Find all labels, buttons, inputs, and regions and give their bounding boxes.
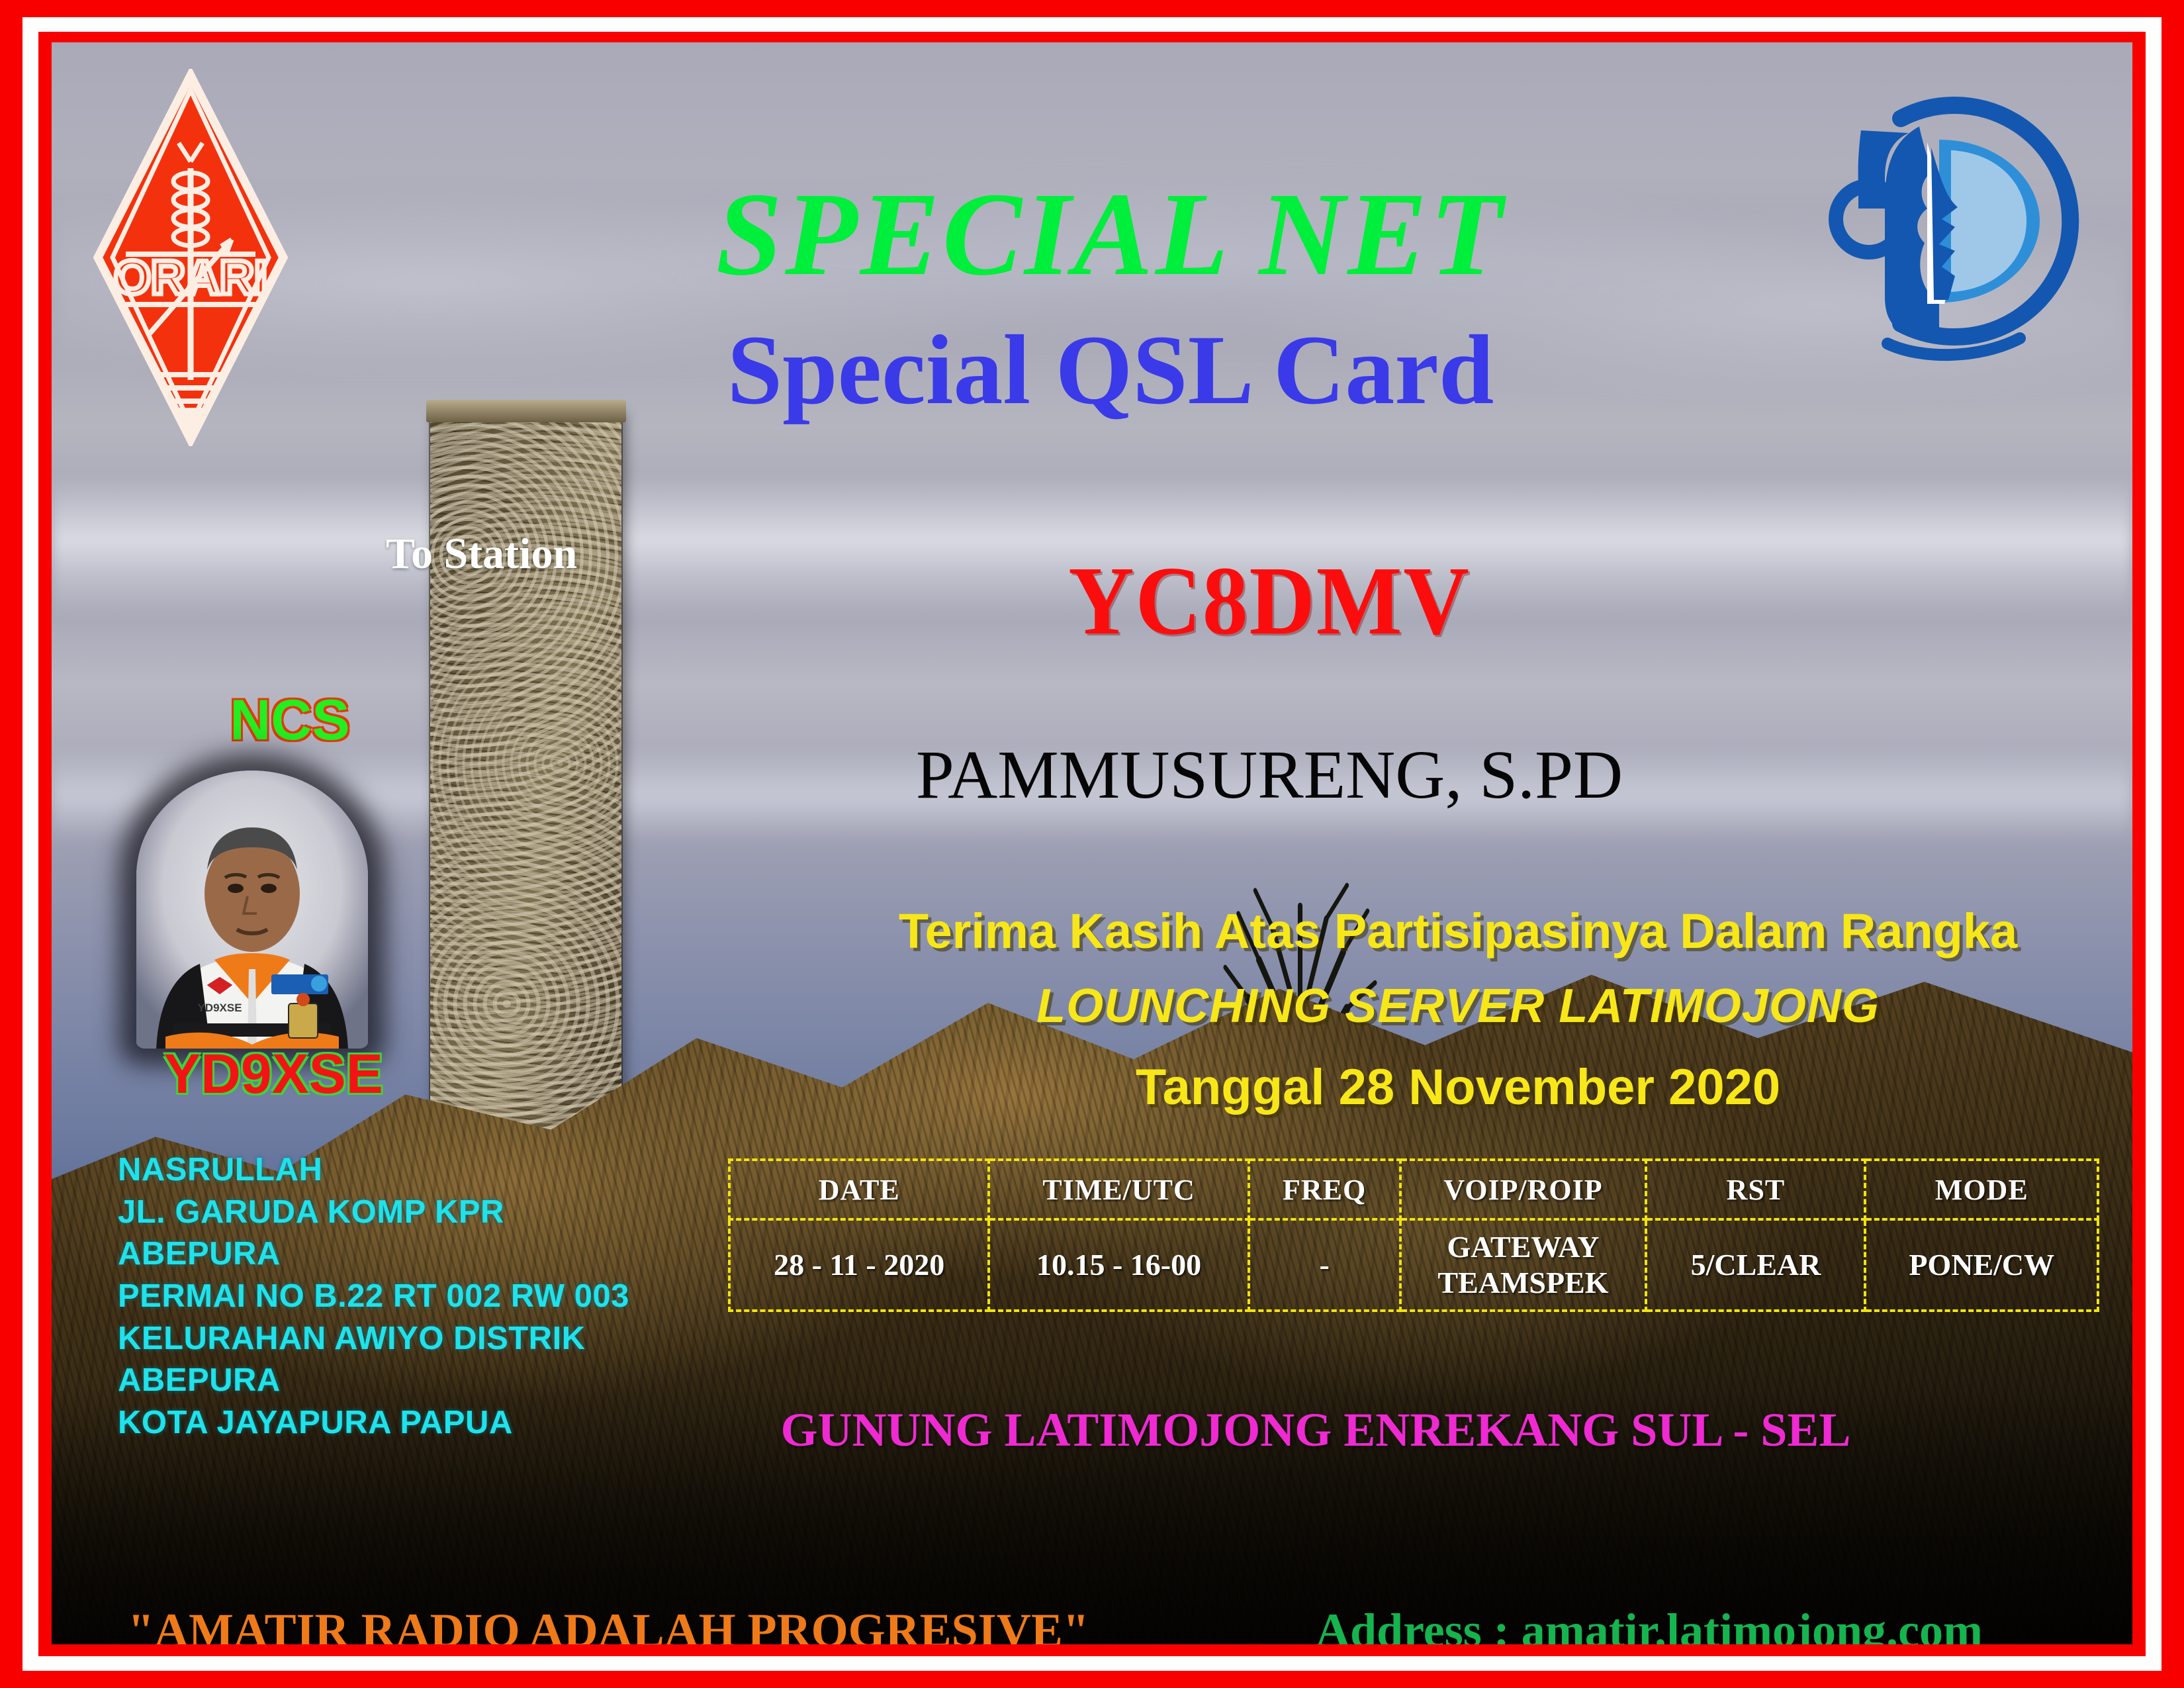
cell-freq: - bbox=[1249, 1219, 1400, 1311]
orari-logo-text: ORARI bbox=[114, 252, 267, 305]
svg-text:YD9XSE: YD9XSE bbox=[197, 1002, 242, 1014]
column-header-date: DATE bbox=[729, 1160, 989, 1219]
to-station-label: To Station bbox=[386, 529, 577, 579]
column-header-freq: FREQ bbox=[1249, 1160, 1400, 1219]
headset-profile-waves-icon bbox=[1836, 105, 2070, 355]
ncs-callsign: YD9XSE bbox=[118, 1042, 429, 1106]
page-title-special-net: SPECIAL NET bbox=[475, 175, 1746, 294]
address-block: NASRULLAH JL. GARUDA KOMP KPR ABEPURA PE… bbox=[118, 1149, 700, 1444]
column-header-mode: MODE bbox=[1865, 1160, 2098, 1219]
event-line: LOUNCHING SERVER LATIMOJONG bbox=[799, 979, 2116, 1033]
column-header-time: TIME/UTC bbox=[989, 1160, 1248, 1219]
operator-name: PAMMUSURENG, S.PD bbox=[813, 741, 1726, 810]
slogan-text: "AMATIR RADIO ADALAH PROGRESIVE" bbox=[128, 1603, 1089, 1644]
cell-date: 28 - 11 - 2020 bbox=[729, 1219, 989, 1311]
location-line: GUNUNG LATIMOJONG ENREKANG SUL - SEL bbox=[687, 1403, 1944, 1458]
web-address-text: Address : amatir.latimojong.com bbox=[1316, 1603, 1983, 1644]
card-photo-background: ORARI bbox=[52, 42, 2132, 1644]
thanks-line: Terima Kasih Atas Partisipasinya Dalam R… bbox=[799, 903, 2116, 959]
qsl-card: ORARI bbox=[0, 0, 2184, 1688]
event-date-line: Tanggal 28 November 2020 bbox=[799, 1058, 2116, 1116]
ncs-operator-avatar: YD9XSE bbox=[136, 771, 368, 1049]
address-line: JL. GARUDA KOMP KPR bbox=[118, 1192, 700, 1234]
qso-log-table: DATE TIME/UTC FREQ VOIP/ROIP RST MODE 28… bbox=[728, 1158, 2099, 1312]
cell-voip-line2: TEAMSPEK bbox=[1402, 1265, 1645, 1301]
orari-logo: ORARI bbox=[91, 69, 290, 446]
cell-rst: 5/CLEAR bbox=[1646, 1219, 1865, 1311]
table-row: 28 - 11 - 2020 10.15 - 16-00 - GATEWAY T… bbox=[729, 1219, 2098, 1311]
page-subtitle-qsl-card: Special QSL Card bbox=[475, 320, 1746, 420]
address-line: NASRULLAH bbox=[118, 1149, 700, 1192]
cell-voip: GATEWAY TEAMSPEK bbox=[1400, 1219, 1647, 1311]
address-line: ABEPURA bbox=[118, 1360, 700, 1402]
table-header-row: DATE TIME/UTC FREQ VOIP/ROIP RST MODE bbox=[729, 1160, 2098, 1219]
cell-time: 10.15 - 16-00 bbox=[989, 1219, 1248, 1311]
column-header-rst: RST bbox=[1646, 1160, 1865, 1219]
address-line: PERMAI NO B.22 RT 002 RW 003 bbox=[118, 1276, 700, 1318]
net-logo bbox=[1821, 79, 2106, 363]
cell-voip-line1: GATEWAY bbox=[1402, 1229, 1645, 1265]
cell-mode: PONE/CW bbox=[1865, 1219, 2098, 1311]
address-line: KOTA JAYAPURA PAPUA bbox=[118, 1402, 700, 1444]
ncs-role-label: NCS bbox=[151, 688, 429, 753]
address-line: ABEPURA bbox=[118, 1233, 700, 1276]
address-line: KELURAHAN AWIYO DISTRIK bbox=[118, 1318, 700, 1360]
station-callsign: YC8DMV bbox=[906, 552, 1632, 650]
column-header-voip: VOIP/ROIP bbox=[1400, 1160, 1647, 1219]
